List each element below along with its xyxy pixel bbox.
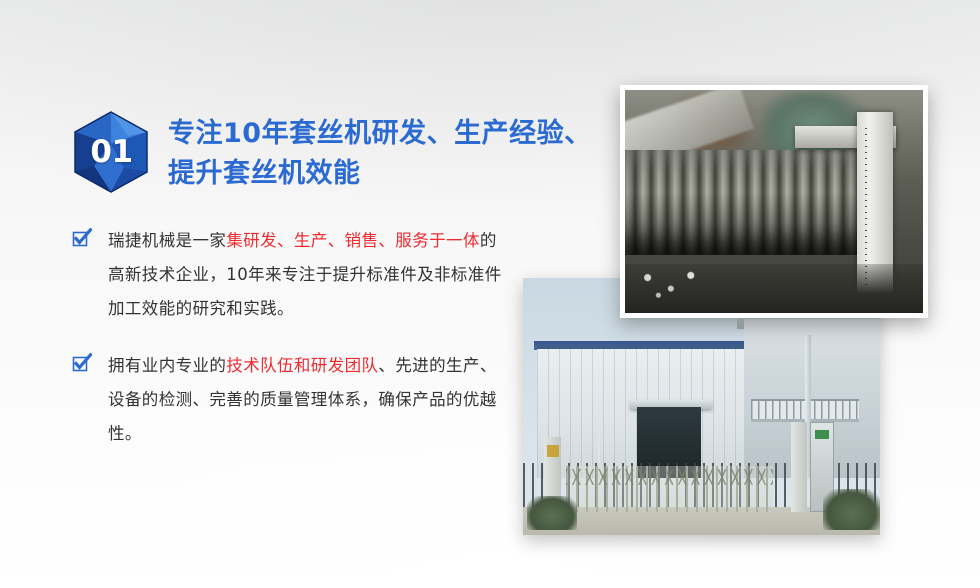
shrub-right bbox=[823, 489, 880, 530]
checkbox-checked-icon bbox=[72, 228, 92, 248]
list-item-text: 拥有业内专业的技术队伍和研发团队、先进的生产、设备的检测、完善的质量管理体系，确… bbox=[108, 349, 506, 450]
headline-row: 01 专注10年套丝机研发、生产经验、 提升套丝机效能 bbox=[72, 108, 542, 194]
list-item-text: 瑞捷机械是一家集研发、生产、销售、服务于一体的高新技术企业，10年来专注于提升标… bbox=[108, 224, 506, 325]
headline-line-2: 提升套丝机效能 bbox=[168, 154, 592, 194]
threaded-pipe-photo bbox=[620, 85, 928, 318]
shrub-left bbox=[527, 496, 577, 529]
headline-line-1: 专注10年套丝机研发、生产经验、 bbox=[168, 114, 592, 154]
text-highlight-2: 技术队伍和研发团队 bbox=[226, 356, 378, 375]
metal-chips bbox=[631, 260, 714, 305]
threaded-pipe-scene bbox=[625, 90, 923, 313]
text-plain-1: 瑞捷机械是一家 bbox=[108, 231, 226, 250]
list-item: 拥有业内专业的技术队伍和研发团队、先进的生产、设备的检测、完善的质量管理体系，确… bbox=[72, 349, 542, 450]
bullet-list: 瑞捷机械是一家集研发、生产、销售、服务于一体的高新技术企业，10年来专注于提升标… bbox=[72, 224, 542, 451]
sliding-gate bbox=[566, 466, 773, 512]
gate-pillar-right bbox=[791, 422, 807, 512]
flag-mast bbox=[598, 401, 600, 463]
list-item: 瑞捷机械是一家集研发、生产、销售、服务于一体的高新技术企业，10年来专注于提升标… bbox=[72, 224, 542, 325]
headline: 专注10年套丝机研发、生产经验、 提升套丝机效能 bbox=[168, 108, 592, 194]
text-highlight-1: 集研发、生产、销售、服务于一体 bbox=[226, 231, 480, 250]
threaded-section bbox=[620, 150, 863, 255]
checkbox-checked-icon bbox=[72, 353, 92, 373]
text-plain-3: 拥有业内专业的 bbox=[108, 356, 226, 375]
feature-block: 01 专注10年套丝机研发、生产经验、 提升套丝机效能 瑞捷机械是一家集研发、生… bbox=[72, 108, 542, 451]
step-number-badge: 01 bbox=[72, 110, 150, 194]
step-number-text: 01 bbox=[72, 110, 150, 194]
